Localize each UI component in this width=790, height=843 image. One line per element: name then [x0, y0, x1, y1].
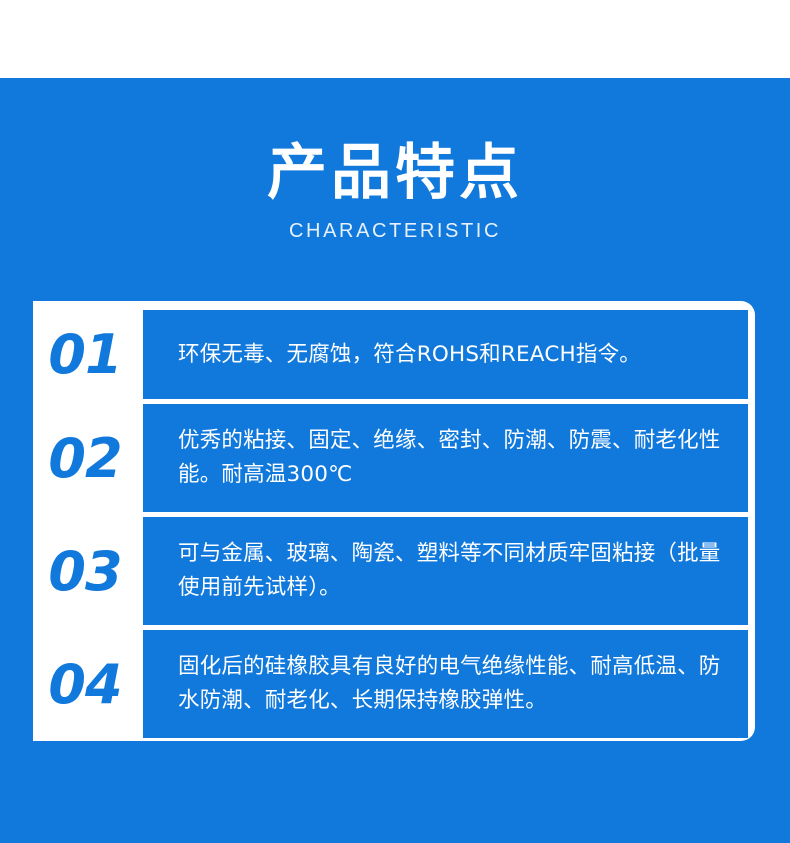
page-title: 产品特点 — [0, 140, 790, 207]
feature-body-03: 可与金属、玻璃、陶瓷、塑料等不同材质牢固粘接（批量使用前先试样）。 — [143, 517, 748, 625]
feature-body-01: 环保无毒、无腐蚀，符合ROHS和REACH指令。 — [143, 310, 748, 399]
feature-text-03: 可与金属、玻璃、陶瓷、塑料等不同材质牢固粘接（批量使用前先试样）。 — [178, 537, 730, 605]
section-heading: 产品特点 CHARACTERISTIC — [0, 140, 790, 243]
list-item: 03 可与金属、玻璃、陶瓷、塑料等不同材质牢固粘接（批量使用前先试样）。 — [33, 517, 748, 625]
feature-body-02: 优秀的粘接、固定、绝缘、密封、防潮、防震、耐老化性能。耐高温300℃ — [143, 404, 748, 512]
feature-body-04: 固化后的硅橡胶具有良好的电气绝缘性能、耐高低温、防水防潮、耐老化、长期保持橡胶弹… — [143, 630, 748, 738]
product-characteristics-page: 产品特点 CHARACTERISTIC 01 环保无毒、无腐蚀，符合ROHS和R… — [0, 0, 790, 843]
features-card: 01 环保无毒、无腐蚀，符合ROHS和REACH指令。 02 优秀的粘接、固定、… — [33, 301, 755, 741]
list-item: 01 环保无毒、无腐蚀，符合ROHS和REACH指令。 — [33, 310, 748, 399]
list-item: 02 优秀的粘接、固定、绝缘、密封、防潮、防震、耐老化性能。耐高温300℃ — [33, 404, 748, 512]
feature-text-01: 环保无毒、无腐蚀，符合ROHS和REACH指令。 — [178, 338, 641, 372]
feature-number-02: 02 — [33, 404, 143, 512]
feature-number-03: 03 — [33, 517, 143, 625]
feature-number-04: 04 — [33, 630, 143, 738]
feature-text-04: 固化后的硅橡胶具有良好的电气绝缘性能、耐高低温、防水防潮、耐老化、长期保持橡胶弹… — [178, 650, 730, 718]
page-subtitle: CHARACTERISTIC — [0, 219, 790, 243]
feature-number-01: 01 — [33, 310, 143, 399]
feature-text-02: 优秀的粘接、固定、绝缘、密封、防潮、防震、耐老化性能。耐高温300℃ — [178, 424, 730, 492]
features-list: 01 环保无毒、无腐蚀，符合ROHS和REACH指令。 02 优秀的粘接、固定、… — [33, 310, 748, 732]
list-item: 04 固化后的硅橡胶具有良好的电气绝缘性能、耐高低温、防水防潮、耐老化、长期保持… — [33, 630, 748, 738]
